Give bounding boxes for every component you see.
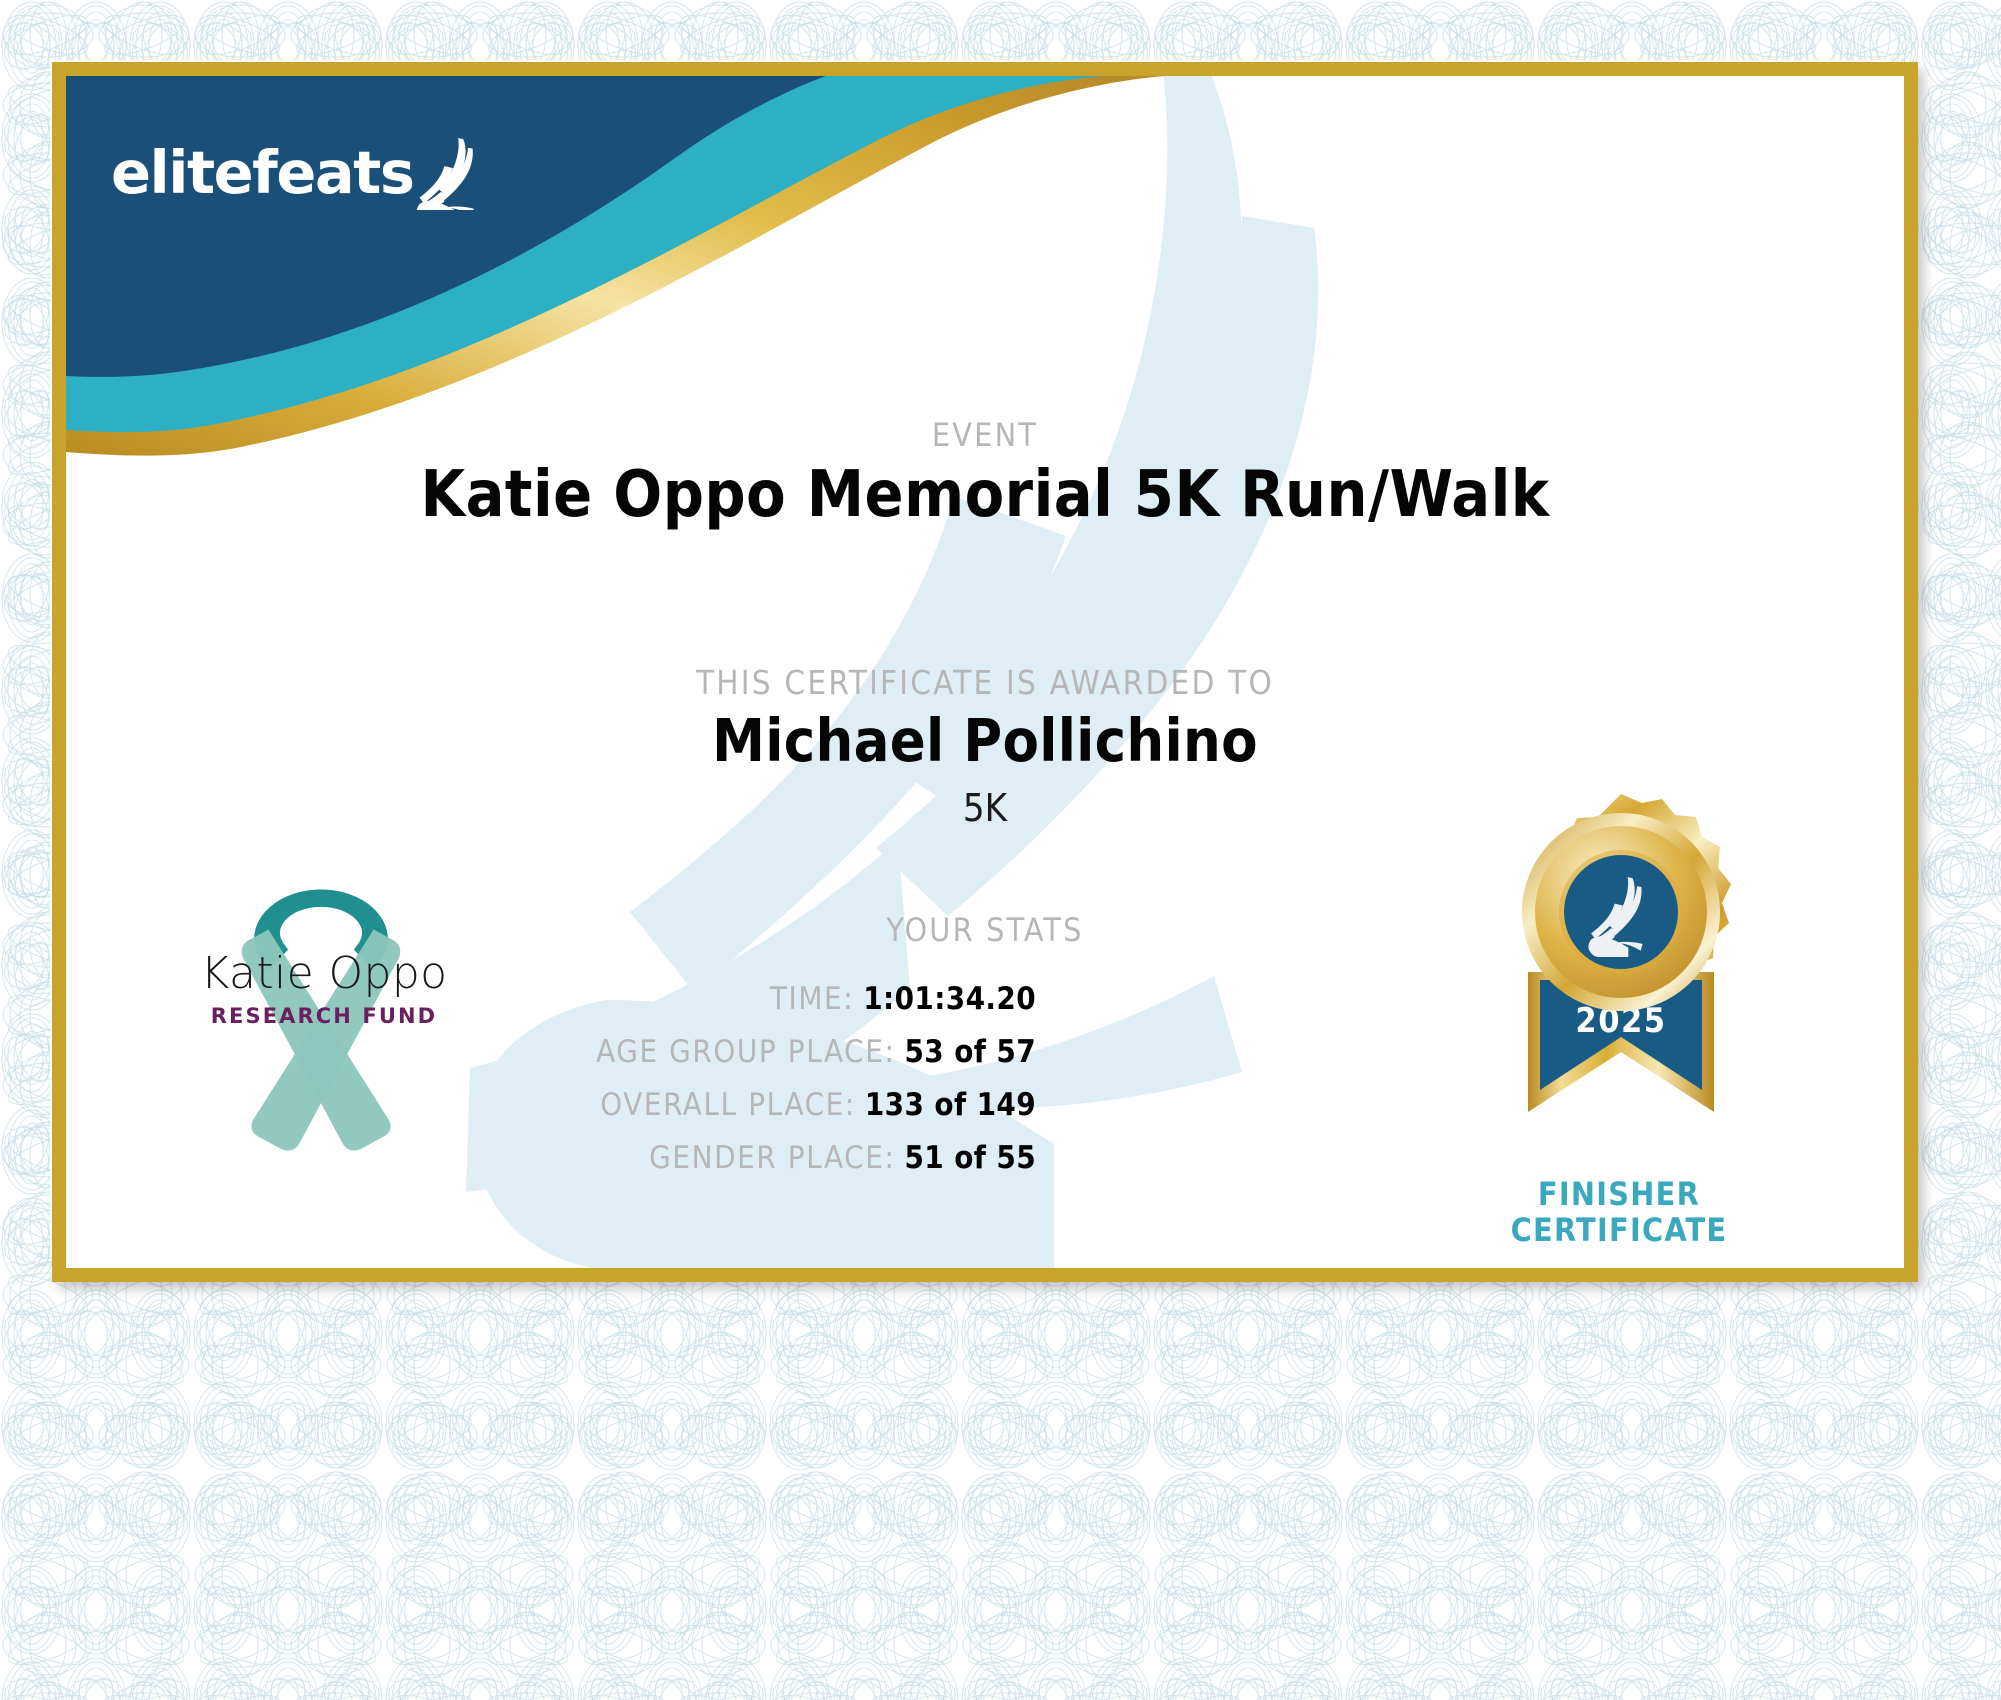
stat-label: AGE GROUP PLACE: bbox=[596, 1034, 895, 1070]
stat-row-overall-place: OVERALL PLACE: 133 of 149 bbox=[396, 1087, 1036, 1140]
finisher-caption-line1: FINISHER bbox=[1419, 1176, 1819, 1212]
stat-label: TIME: bbox=[770, 981, 854, 1017]
stat-value: 51 of 55 bbox=[904, 1140, 1036, 1176]
awareness-ribbon-icon bbox=[176, 876, 466, 1166]
stats-list: TIME: 1:01:34.20 AGE GROUP PLACE: 53 of … bbox=[396, 981, 1036, 1193]
event-name: Katie Oppo Memorial 5K Run/Walk bbox=[66, 458, 1904, 532]
stat-label: OVERALL PLACE: bbox=[600, 1087, 856, 1123]
certificate-page: elitefeats EVENT Katie Oppo Memorial 5K … bbox=[0, 0, 2001, 1700]
stat-value: 133 of 149 bbox=[865, 1087, 1036, 1123]
stat-value: 53 of 57 bbox=[904, 1034, 1036, 1070]
stat-value: 1:01:34.20 bbox=[863, 981, 1036, 1017]
stat-row-age-group-place: AGE GROUP PLACE: 53 of 57 bbox=[396, 1034, 1036, 1087]
stat-row-time: TIME: 1:01:34.20 bbox=[396, 981, 1036, 1034]
finisher-caption-line2: CERTIFICATE bbox=[1419, 1212, 1819, 1248]
finisher-caption: FINISHER CERTIFICATE bbox=[1419, 1176, 1819, 1249]
awarded-to-label: THIS CERTIFICATE IS AWARDED TO bbox=[66, 663, 1904, 702]
finisher-medal-badge: 2025 bbox=[1456, 794, 1786, 1194]
stat-label: GENDER PLACE: bbox=[649, 1140, 895, 1176]
event-label: EVENT bbox=[66, 416, 1904, 454]
stat-row-gender-place: GENDER PLACE: 51 of 55 bbox=[396, 1140, 1036, 1193]
recipient-name: Michael Pollichino bbox=[66, 706, 1904, 775]
certificate-frame: elitefeats EVENT Katie Oppo Memorial 5K … bbox=[52, 62, 1918, 1282]
